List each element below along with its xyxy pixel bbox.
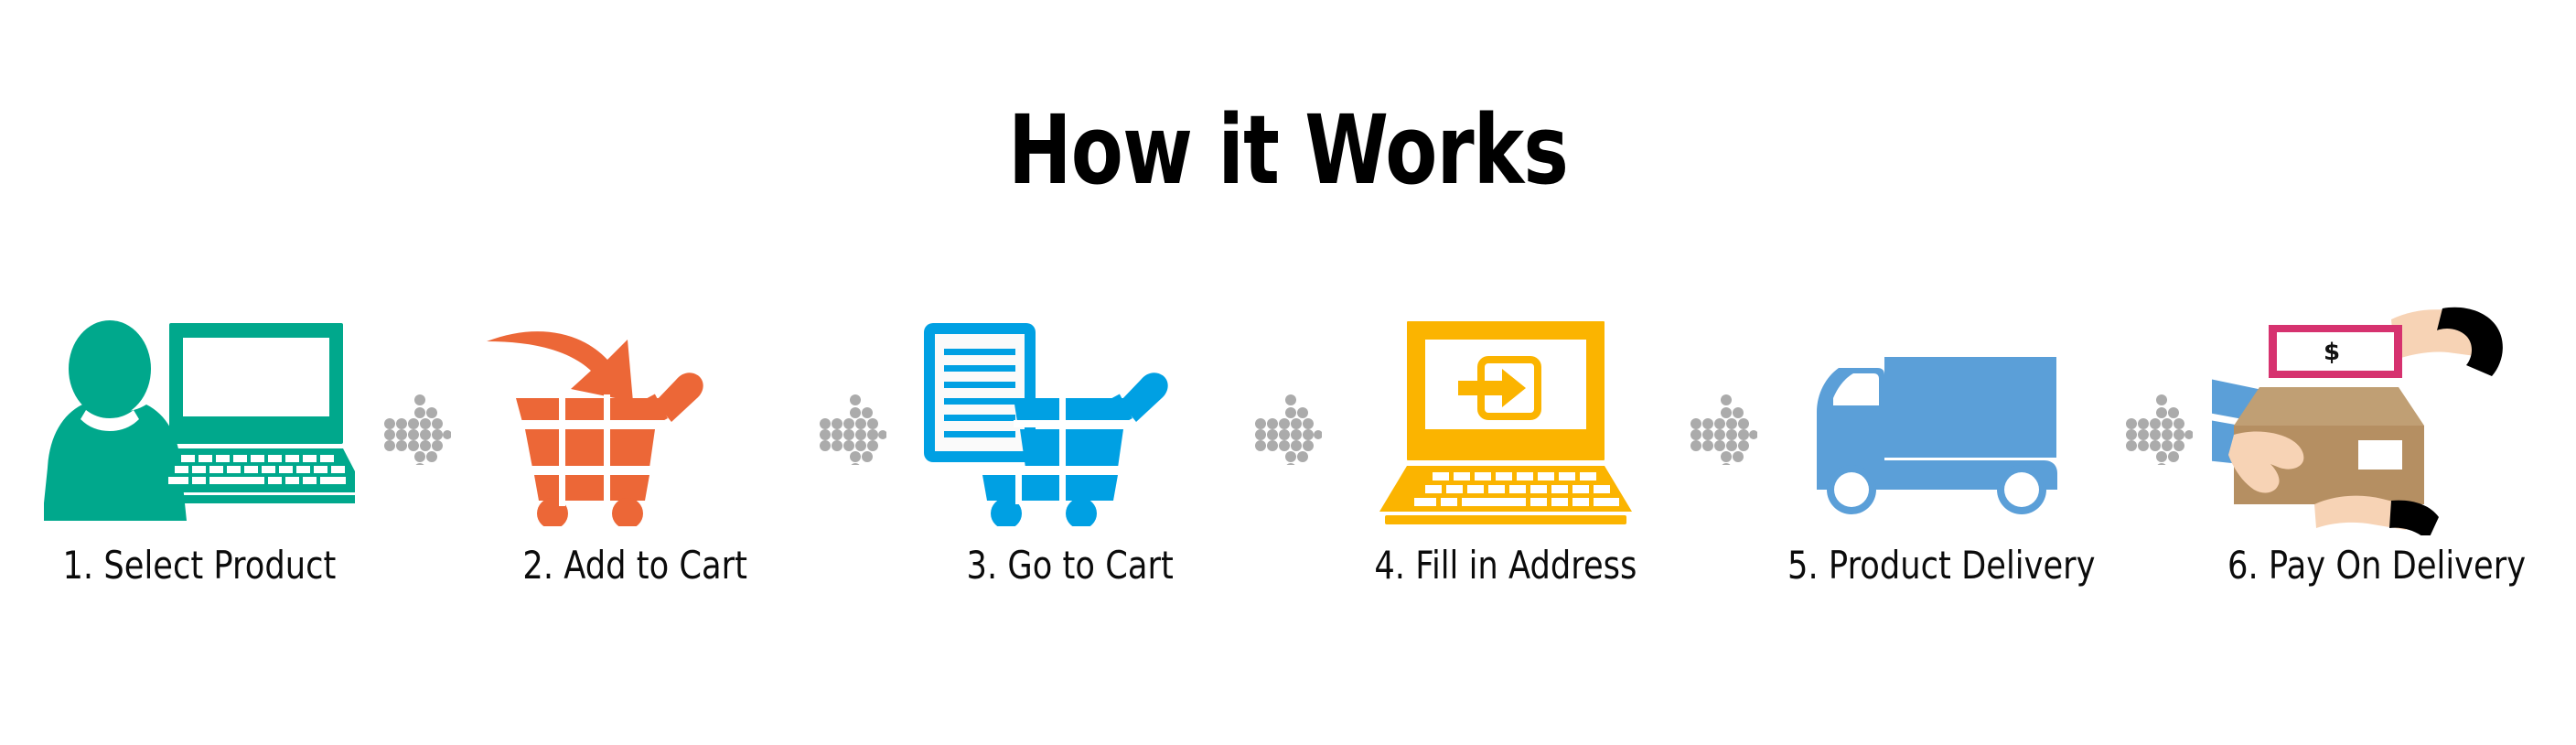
step-label: 5. Product Delivery <box>1787 544 2095 588</box>
step-label: 4. Fill in Address <box>1374 544 1637 588</box>
dotted-arrow-right-icon <box>818 302 887 632</box>
steps-row: 1. Select Product <box>0 302 2576 632</box>
dotted-arrow-right-icon <box>2124 302 2194 632</box>
dotted-arrow-right-icon <box>382 302 452 632</box>
step-label: 1. Select Product <box>63 544 337 588</box>
step-1-select-product[interactable]: 1. Select Product <box>16 302 382 632</box>
top-hand-with-cash-group: $ <box>2269 308 2503 378</box>
dotted-arrow-right-icon <box>1253 302 1323 632</box>
step-label: 2. Add to Cart <box>522 544 747 588</box>
step-label: 6. Pay On Delivery <box>2227 544 2526 588</box>
banknote-dollar-symbol: $ <box>2324 339 2340 366</box>
delivery-truck-icon <box>1776 302 2106 540</box>
step-4-fill-in-address[interactable]: 4. Fill in Address <box>1323 302 1689 632</box>
shopping-cart-with-down-arrow-icon <box>470 302 800 540</box>
step-3-go-to-cart[interactable]: 3. Go to Cart <box>887 302 1253 632</box>
banknote-icon: $ <box>2269 325 2402 378</box>
step-5-product-delivery[interactable]: 5. Product Delivery <box>1758 302 2124 632</box>
step-2-add-to-cart[interactable]: 2. Add to Cart <box>452 302 818 632</box>
laptop-with-login-arrow-icon <box>1341 302 1670 540</box>
dotted-arrow-right-icon <box>1689 302 1758 632</box>
shipping-label <box>2358 440 2402 470</box>
hands-exchange-box-and-cash-icon: $ <box>2212 302 2541 540</box>
step-label: 3. Go to Cart <box>967 544 1174 588</box>
page-title: How it Works <box>258 103 2319 198</box>
infographic-canvas: How it Works <box>0 0 2576 745</box>
person-with-laptop-icon <box>35 302 364 540</box>
document-list-with-cart-icon <box>906 302 1235 540</box>
step-6-pay-on-delivery[interactable]: $ <box>2194 302 2560 632</box>
